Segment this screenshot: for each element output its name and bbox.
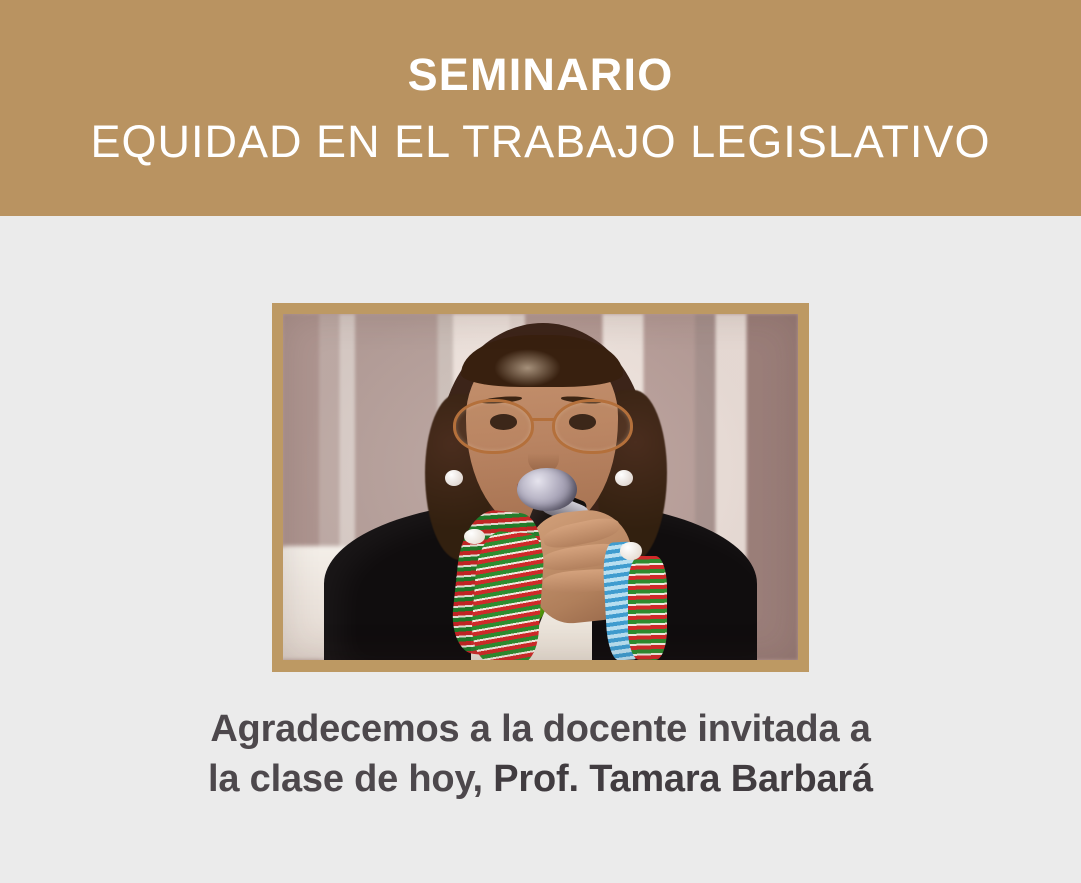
necklace-bead-white-left xyxy=(464,529,485,545)
microphone-head xyxy=(517,468,576,511)
lens-left xyxy=(453,399,534,454)
caption-line-1: Agradecemos a la docente invitada a xyxy=(0,704,1081,754)
seminar-poster: SEMINARIO EQUIDAD EN EL TRABAJO LEGISLAT… xyxy=(0,0,1081,883)
earring-right xyxy=(615,470,633,486)
earring-left xyxy=(445,470,463,486)
forehead-highlight xyxy=(494,349,561,387)
header-banner: SEMINARIO EQUIDAD EN EL TRABAJO LEGISLAT… xyxy=(0,0,1081,216)
glasses-bridge xyxy=(532,418,554,421)
caption-line-2-prefix: la clase de hoy, xyxy=(208,758,493,800)
seminar-subtitle: EQUIDAD EN EL TRABAJO LEGISLATIVO xyxy=(91,119,991,164)
necklace-strand-right xyxy=(628,556,667,660)
caption-line-2: la clase de hoy, Prof. Tamara Barbará xyxy=(0,754,1081,804)
necklace-strand-red-green xyxy=(469,530,545,660)
caption: Agradecemos a la docente invitada a la c… xyxy=(0,704,1081,804)
speaker-photo xyxy=(283,314,798,660)
photo-frame xyxy=(272,303,809,672)
speaker-name: Prof. Tamara Barbará xyxy=(493,758,873,800)
lens-right xyxy=(552,399,633,454)
necklace-bead-white-right xyxy=(620,542,642,559)
seminar-title: SEMINARIO xyxy=(408,52,674,97)
